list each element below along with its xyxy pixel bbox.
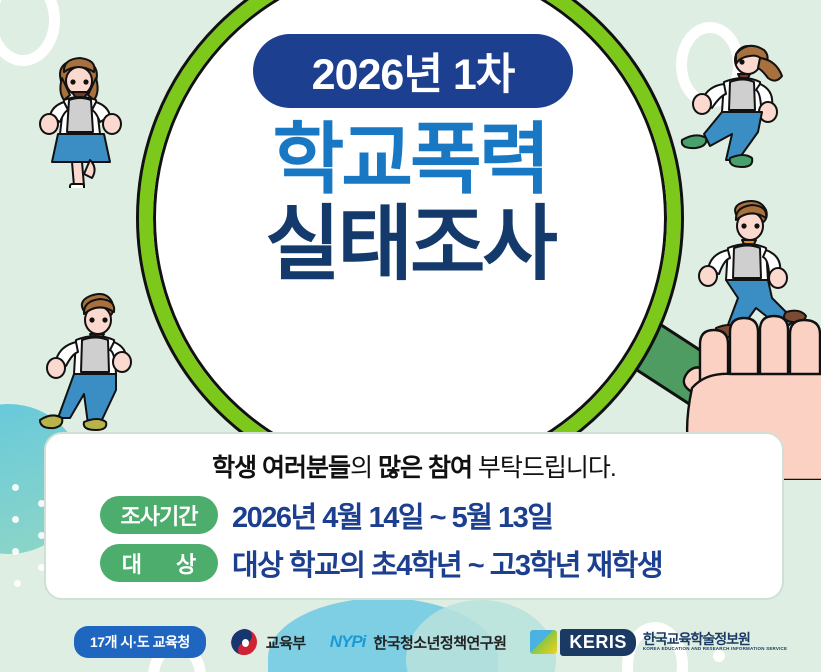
info-headline: 학생 여러분들의 많은 참여 부탁드립니다. (46, 448, 782, 484)
student-girl-running-illustration (676, 32, 806, 172)
moe-logo: 교육부 (230, 628, 306, 656)
info-headline-mid: 의 (350, 454, 378, 482)
info-headline-bold-2: 많은 참여 (378, 454, 472, 482)
student-girl-cheering-illustration (28, 48, 138, 188)
badge-survey-period: 조사기간 (100, 496, 218, 534)
title-line-2: 실태조사 (139, 204, 681, 286)
poster-title: 학교폭력 실태조사 (139, 120, 681, 286)
badge-17-offices: 17개 시·도 교육청 (74, 626, 206, 658)
year-badge: 2026년 1차 (253, 34, 573, 108)
taeguk-icon (230, 628, 258, 656)
info-headline-bold-1: 학생 여러분들 (212, 454, 350, 482)
student-boy-walking-illustration (28, 292, 148, 432)
title-line-1: 학교폭력 (139, 120, 681, 198)
survey-period-value: 2026년 4월 14일 ~ 5월 13일 (232, 494, 552, 536)
keris-wordmark: KERIS (560, 629, 636, 656)
badge-target: 대 상 (100, 544, 218, 582)
nypi-mark-icon: NYPi (330, 632, 366, 652)
keris-logo: KERIS 한국교육학술정보원 KOREA EDUCATION AND RESE… (530, 629, 787, 656)
nypi-logo: NYPi 한국청소년정책연구원 (330, 632, 507, 653)
footer-logos: 17개 시·도 교육청 교육부 NYPi 한국청소년정책연구원 KERIS 한국… (0, 612, 821, 672)
keris-en-label: KOREA EDUCATION AND RESEARCH INFORMATION… (643, 647, 787, 652)
info-row-target: 대 상 대상 학교의 초4학년 ~ 고3학년 재학생 (46, 542, 782, 584)
keris-tile-icon (530, 630, 557, 654)
keris-korean-name: 한국교육학술정보원 KOREA EDUCATION AND RESEARCH I… (643, 632, 787, 652)
nypi-label: 한국청소년정책연구원 (373, 632, 506, 653)
target-value: 대상 학교의 초4학년 ~ 고3학년 재학생 (232, 542, 662, 584)
info-headline-tail: 부탁드립니다. (472, 454, 616, 482)
poster-root: 2026년 1차 학교폭력 실태조사 학생 여러분들의 많은 참여 부탁드립니다… (0, 0, 821, 672)
moe-label: 교육부 (266, 632, 306, 653)
info-card: 학생 여러분들의 많은 참여 부탁드립니다. 조사기간 2026년 4월 14일… (44, 432, 784, 600)
info-row-period: 조사기간 2026년 4월 14일 ~ 5월 13일 (46, 494, 782, 536)
keris-kr-label: 한국교육학술정보원 (643, 632, 787, 647)
